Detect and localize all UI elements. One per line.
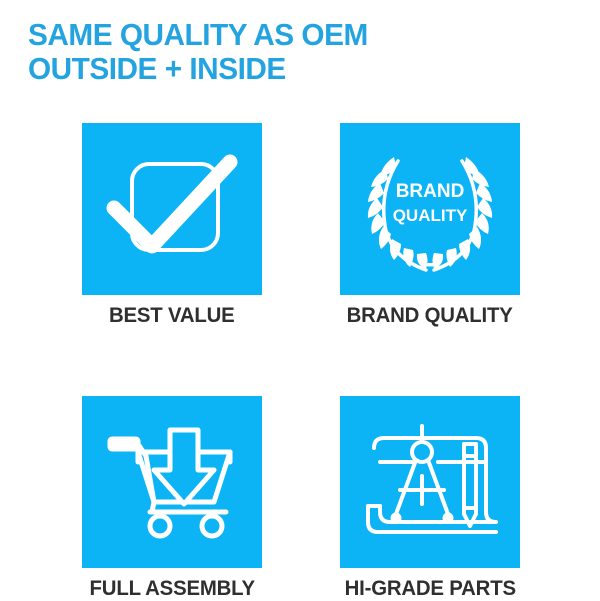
feature-best-value[interactable]: BEST VALUE: [82, 123, 262, 328]
blueprint-compass-pencil-icon: [360, 418, 500, 546]
feature-full-assembly[interactable]: FULL ASSEMBLY: [82, 396, 262, 601]
feature-hi-grade-parts[interactable]: HI-GRADE PARTS: [340, 396, 520, 601]
feature-label: BEST VALUE: [109, 304, 235, 328]
feature-grid: BEST VALUE: [82, 123, 520, 601]
feature-row-top: BEST VALUE: [82, 123, 520, 328]
feature-label: HI-GRADE PARTS: [344, 577, 515, 601]
feature-row-bottom: FULL ASSEMBLY: [82, 396, 520, 601]
checkbox-check-icon: [104, 146, 240, 272]
shopping-cart-download-icon: [102, 422, 242, 542]
feature-icon-tile: [82, 396, 262, 568]
feature-icon-tile: BRAND QUALITY: [340, 123, 520, 295]
feature-label: BRAND QUALITY: [347, 304, 513, 328]
wreath-text-brand: BRAND: [396, 181, 465, 202]
wreath-text-quality: QUALITY: [393, 206, 468, 225]
feature-icon-tile: [82, 123, 262, 295]
page-title: SAME QUALITY AS OEM OUTSIDE + INSIDE: [28, 18, 568, 86]
page-title-line-1: SAME QUALITY AS OEM: [28, 18, 546, 52]
laurel-wreath-icon: BRAND QUALITY: [360, 139, 500, 279]
page-title-line-2: OUTSIDE + INSIDE: [28, 52, 546, 86]
feature-label: FULL ASSEMBLY: [89, 577, 254, 601]
infographic-page: SAME QUALITY AS OEM OUTSIDE + INSIDE BES…: [0, 0, 600, 600]
feature-brand-quality[interactable]: BRAND QUALITY BRAND QUALITY: [340, 123, 520, 328]
feature-icon-tile: [340, 396, 520, 568]
